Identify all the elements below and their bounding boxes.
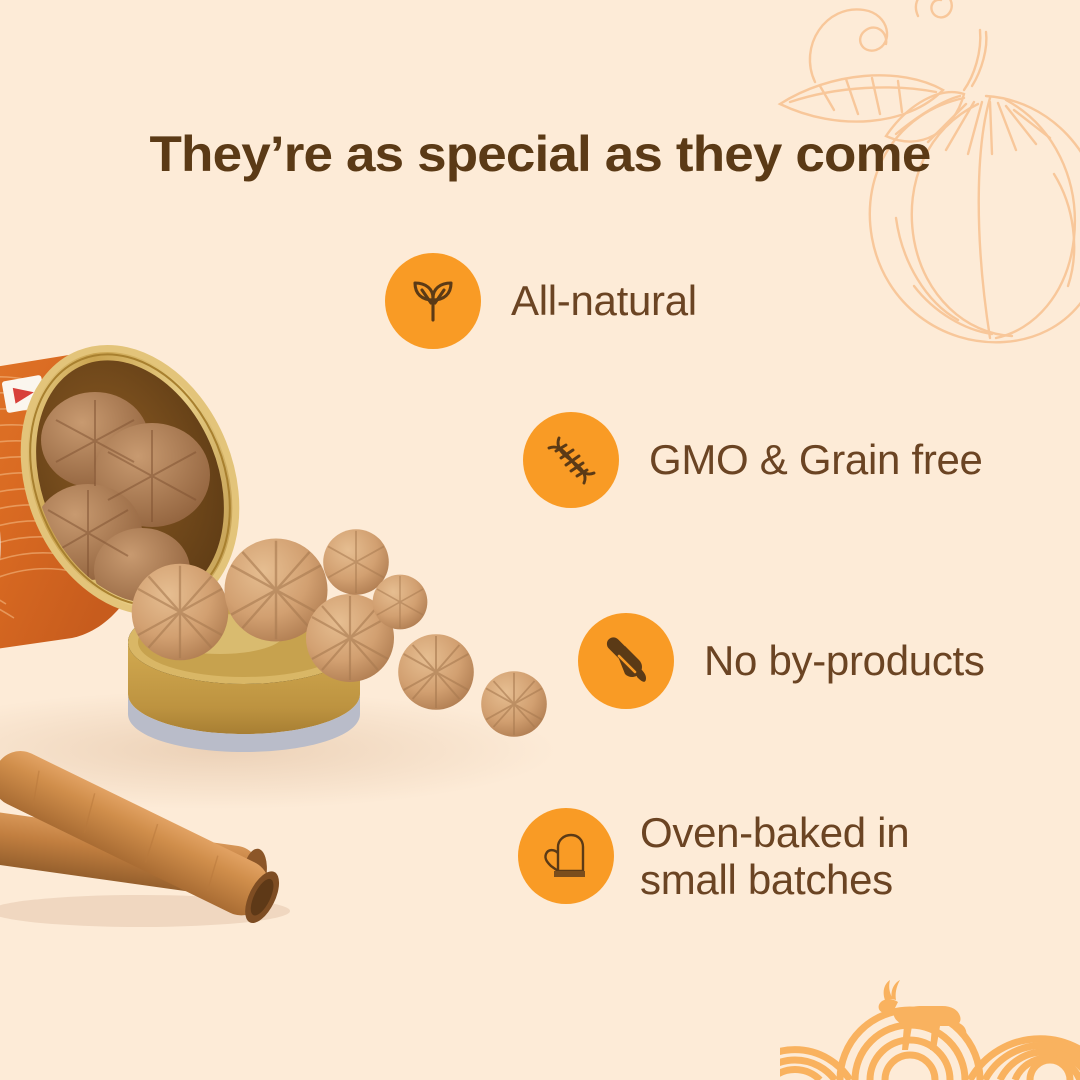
dna-icon — [542, 431, 600, 489]
feature-icon-badge — [578, 613, 674, 709]
feature-item-oven-baked[interactable]: Oven-baked in small batches — [518, 808, 909, 904]
feature-label: No by-products — [704, 637, 985, 684]
feature-item-all-natural[interactable]: All-natural — [385, 253, 697, 349]
cinnamon-sticks-photo — [0, 735, 330, 935]
sprout-icon — [404, 272, 462, 330]
feature-icon-badge — [518, 808, 614, 904]
dropper-icon — [597, 632, 655, 690]
feature-item-no-by-products[interactable]: No by-products — [578, 613, 985, 709]
feature-label: GMO & Grain free — [649, 436, 983, 483]
product-tin-photo: HEYS FARM — [0, 290, 560, 810]
feature-icon-badge — [523, 412, 619, 508]
feature-icon-badge — [385, 253, 481, 349]
oven-mitt-icon — [537, 827, 595, 885]
feature-label: All-natural — [511, 277, 697, 324]
page-title: They’re as special as they come — [0, 125, 1080, 183]
goat-on-hills-decoration — [780, 930, 1080, 1080]
poster-canvas: They’re as special as they come — [0, 0, 1080, 1080]
goat-silhouette — [879, 980, 967, 1050]
feature-label: Oven-baked in small batches — [640, 809, 909, 903]
feature-item-gmo-grain-free[interactable]: GMO & Grain free — [523, 412, 983, 508]
